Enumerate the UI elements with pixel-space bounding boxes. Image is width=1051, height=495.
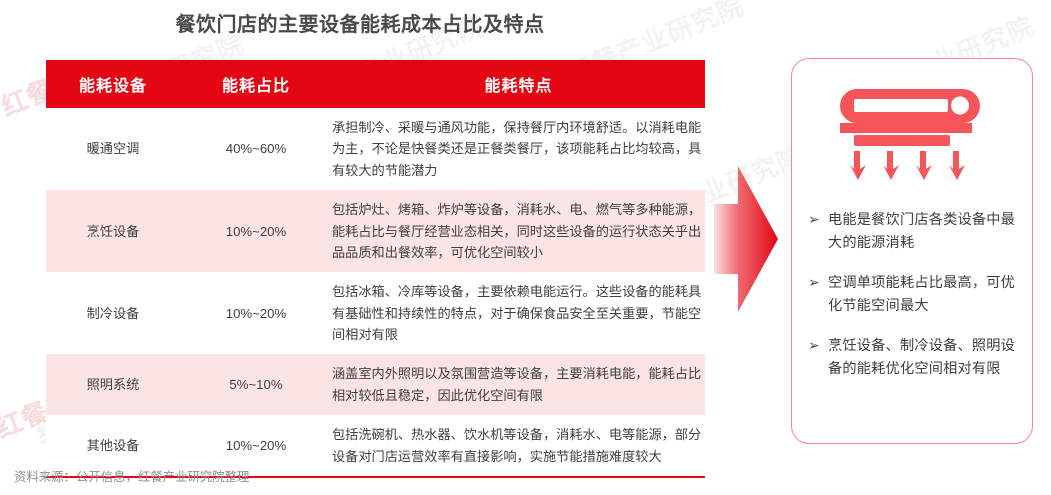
energy-table-container: 能耗设备 能耗占比 能耗特点 暖通空调 40%~60% 承担制冷、采暖与通风功能… [46,60,705,478]
table-header: 能耗设备 能耗占比 能耗特点 [46,60,705,108]
insight-text: 电能是餐饮门店各类设备中最大的能源消耗 [828,209,1018,255]
cell-feature: 涵盖室内外照明以及氛围营造等设备，主要消耗电能，能耗占比相对较低且稳定，因此优化… [332,354,705,415]
bullet-arrow-icon: ➢ [808,272,828,295]
energy-table: 能耗设备 能耗占比 能耗特点 暖通空调 40%~60% 承担制冷、采暖与通风功能… [46,60,705,476]
cell-feature: 包括洗碗机、热水器、饮水机等设备，消耗水、电等能源，部分设备对门店运营效率有直接… [332,415,705,476]
table-row: 制冷设备 10%~20% 包括冰箱、冷库等设备，主要依赖电能运行。这些设备的能耗… [46,272,705,354]
cell-device: 制冷设备 [46,272,180,354]
column-header-share: 能耗占比 [180,60,332,108]
table-row: 照明系统 5%~10% 涵盖室内外照明以及氛围营造等设备，主要消耗电能，能耗占比… [46,354,705,415]
column-header-feature: 能耗特点 [332,60,705,108]
list-item: ➢ 烹饪设备、制冷设备、照明设备的能耗优化空间相对有限 [808,335,1018,381]
table-row: 烹饪设备 10%~20% 包括炉灶、烤箱、炸炉等设备，消耗水、电、燃气等多种能源… [46,190,705,272]
cell-share: 40%~60% [180,108,332,190]
cell-feature: 包括冰箱、冷库等设备，主要依赖电能运行。这些设备的能耗具有基础性和持续性的特点，… [332,272,705,354]
bullet-arrow-icon: ➢ [808,335,828,358]
cell-share: 10%~20% [180,190,332,272]
source-note: 资料来源：公开信息，红餐产业研究院整理 [14,467,249,485]
table-row: 暖通空调 40%~60% 承担制冷、采暖与通风功能，保持餐厅内环境舒适。以消耗电… [46,108,705,190]
cell-feature: 包括炉灶、烤箱、炸炉等设备，消耗水、电、燃气等多种能源，能耗占比与餐厅经营业态相… [332,190,705,272]
cell-device: 暖通空调 [46,108,180,190]
cell-feature: 承担制冷、采暖与通风功能，保持餐厅内环境舒适。以消耗电能为主，不论是快餐类还是正… [332,108,705,190]
insight-text: 烹饪设备、制冷设备、照明设备的能耗优化空间相对有限 [828,335,1018,381]
column-header-device: 能耗设备 [46,60,180,108]
air-conditioner-icon [836,85,988,189]
table-body: 暖通空调 40%~60% 承担制冷、采暖与通风功能，保持餐厅内环境舒适。以消耗电… [46,108,705,476]
insight-bullet-list: ➢ 电能是餐饮门店各类设备中最大的能源消耗 ➢ 空调单项能耗占比最高，可优化节能… [808,209,1018,398]
right-arrow-icon [714,166,778,312]
cell-device: 烹饪设备 [46,190,180,272]
table-header-row: 能耗设备 能耗占比 能耗特点 [46,60,705,108]
list-item: ➢ 空调单项能耗占比最高，可优化节能空间最大 [808,272,1018,318]
list-item: ➢ 电能是餐饮门店各类设备中最大的能源消耗 [808,209,1018,255]
bullet-arrow-icon: ➢ [808,209,828,232]
cell-share: 10%~20% [180,272,332,354]
cell-device: 照明系统 [46,354,180,415]
page-title: 餐饮门店的主要设备能耗成本占比及特点 [0,8,720,37]
insight-text: 空调单项能耗占比最高，可优化节能空间最大 [828,272,1018,318]
cell-share: 5%~10% [180,354,332,415]
insights-panel: ➢ 电能是餐饮门店各类设备中最大的能源消耗 ➢ 空调单项能耗占比最高，可优化节能… [791,58,1033,444]
